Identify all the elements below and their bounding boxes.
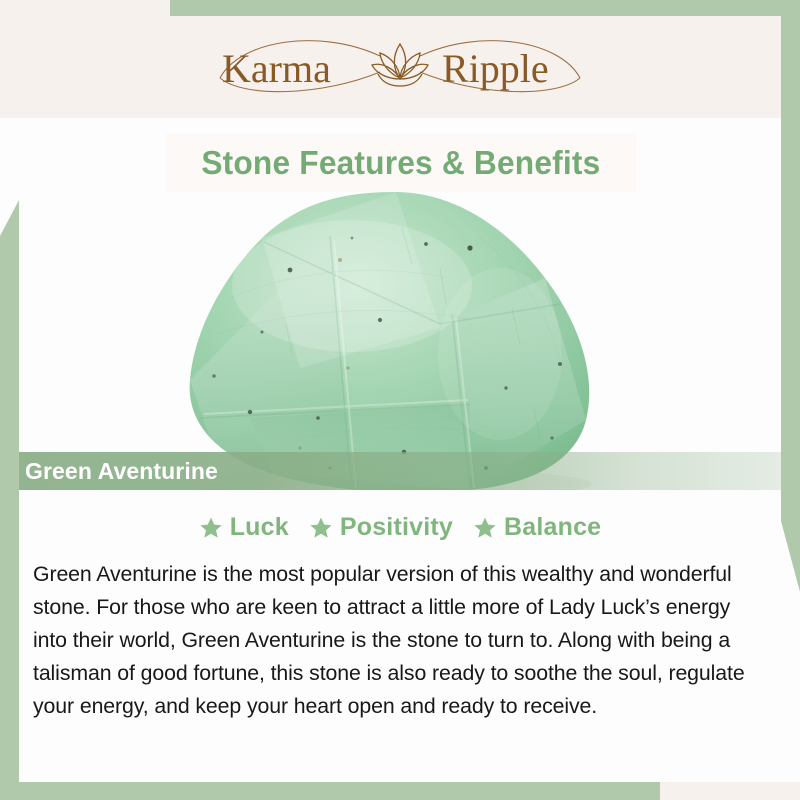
- frame-bar-bottom: [0, 782, 660, 800]
- keyword-label-balance: Balance: [504, 513, 601, 542]
- brand-name-right: Ripple: [442, 46, 549, 91]
- keyword-item-luck: Luck: [199, 513, 289, 542]
- brand-name-left: Karma: [222, 46, 331, 91]
- star-icon: [199, 516, 223, 540]
- keyword-item-balance: Balance: [473, 513, 601, 542]
- section-title-banner: Stone Features & Benefits: [166, 133, 636, 192]
- star-icon: [473, 516, 497, 540]
- brand-logo-graphic: Karma Ripple: [210, 26, 590, 104]
- star-icon: [309, 516, 333, 540]
- section-title: Stone Features & Benefits: [201, 144, 600, 182]
- brand-header: Karma Ripple: [0, 0, 800, 118]
- stone-name-band: Green Aventurine: [0, 452, 800, 490]
- keyword-list: Luck Positivity Balance: [0, 513, 800, 542]
- stone-description-text: Green Aventurine is the most popular ver…: [33, 558, 760, 723]
- infographic-page: Karma Ripple: [0, 0, 800, 800]
- keyword-label-positivity: Positivity: [340, 513, 453, 542]
- brand-logo: Karma Ripple: [210, 26, 590, 104]
- keyword-label-luck: Luck: [230, 513, 289, 542]
- stone-description-section: Luck Positivity Balance Green Aventurine…: [0, 490, 800, 782]
- stone-name-label: Green Aventurine: [25, 458, 218, 485]
- lotus-icon: [372, 44, 428, 86]
- keyword-item-positivity: Positivity: [309, 513, 453, 542]
